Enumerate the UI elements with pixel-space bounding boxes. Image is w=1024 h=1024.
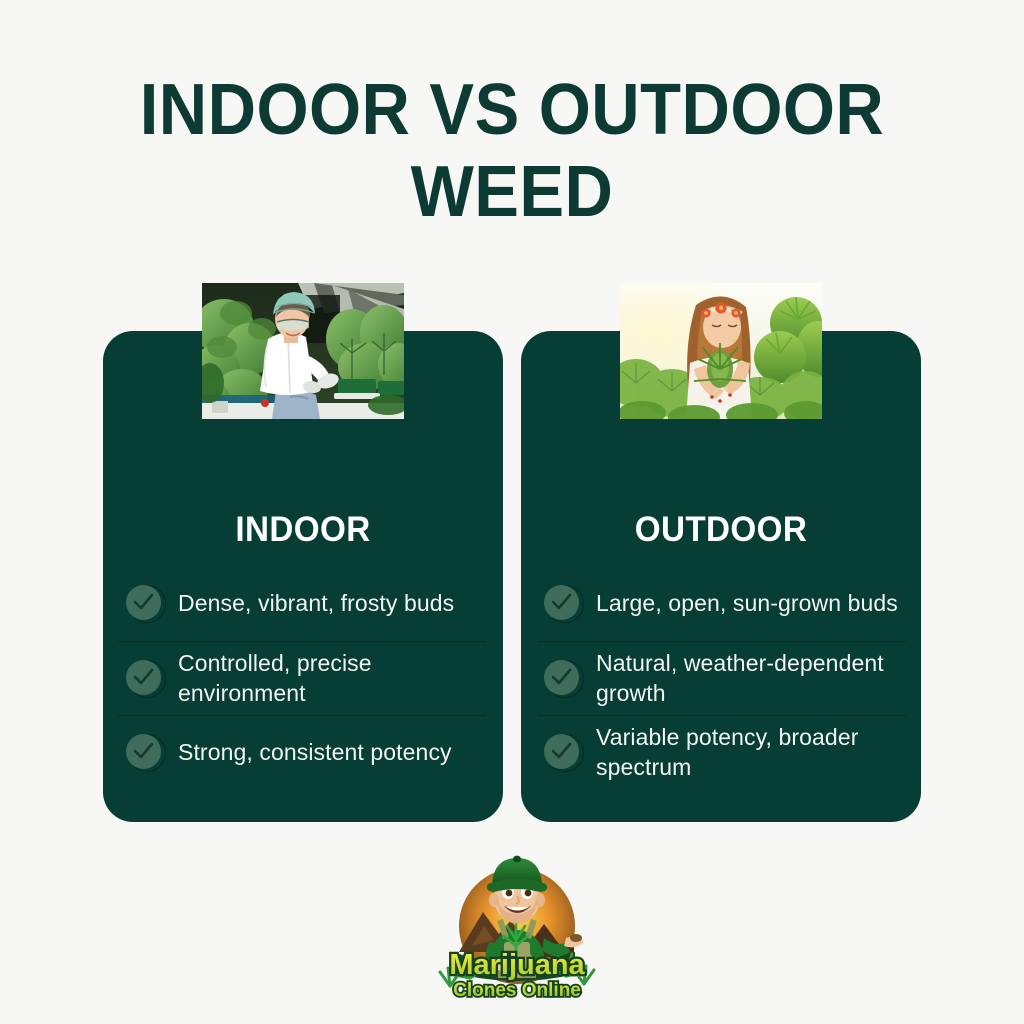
list-item: Controlled, precise environment [119, 641, 487, 715]
check-circle-icon [126, 584, 164, 622]
outdoor-feature-label: Large, open, sun-grown buds [596, 588, 898, 618]
comparison-column-indoor: INDOOR Dense, vibrant, frosty buds [103, 283, 503, 828]
comparison-column-outdoor: OUTDOOR Large, open, sun-grown buds [521, 283, 921, 828]
indoor-grow-photo [202, 283, 404, 419]
logo-line-2: Clones Online [453, 980, 581, 1001]
logo-line-1: Marijuana [449, 949, 585, 981]
check-circle-icon [544, 733, 582, 771]
indoor-feature-list: Dense, vibrant, frosty buds Controlled, … [119, 567, 487, 789]
check-circle-icon [126, 659, 164, 697]
list-item: Strong, consistent potency [119, 715, 487, 789]
outdoor-feature-label: Natural, weather-dependent growth [596, 648, 905, 708]
list-item: Variable potency, broader spectrum [537, 715, 905, 789]
list-item: Natural, weather-dependent growth [537, 641, 905, 715]
page-title: INDOOR VS OUTDOOR WEED [0, 74, 1024, 228]
list-item: Dense, vibrant, frosty buds [119, 567, 487, 641]
outdoor-card-heading: OUTDOOR [531, 511, 911, 549]
outdoor-feature-label: Variable potency, broader spectrum [596, 722, 905, 782]
brand-logo: Marijuana Clones Online [432, 846, 602, 1018]
comparison-columns: INDOOR Dense, vibrant, frosty buds [0, 283, 1024, 828]
outdoor-grow-photo [620, 283, 822, 419]
indoor-feature-label: Dense, vibrant, frosty buds [178, 588, 454, 618]
check-circle-icon [544, 659, 582, 697]
page-title-line-2: WEED [36, 156, 988, 228]
list-item: Large, open, sun-grown buds [537, 567, 905, 641]
outdoor-feature-list: Large, open, sun-grown buds Natural, wea… [537, 567, 905, 789]
indoor-card-heading: INDOOR [113, 511, 493, 549]
check-circle-icon [126, 733, 164, 771]
check-circle-icon [544, 584, 582, 622]
page-title-line-1: INDOOR VS OUTDOOR [36, 74, 988, 146]
indoor-feature-label: Controlled, precise environment [178, 648, 487, 708]
indoor-feature-label: Strong, consistent potency [178, 737, 452, 767]
